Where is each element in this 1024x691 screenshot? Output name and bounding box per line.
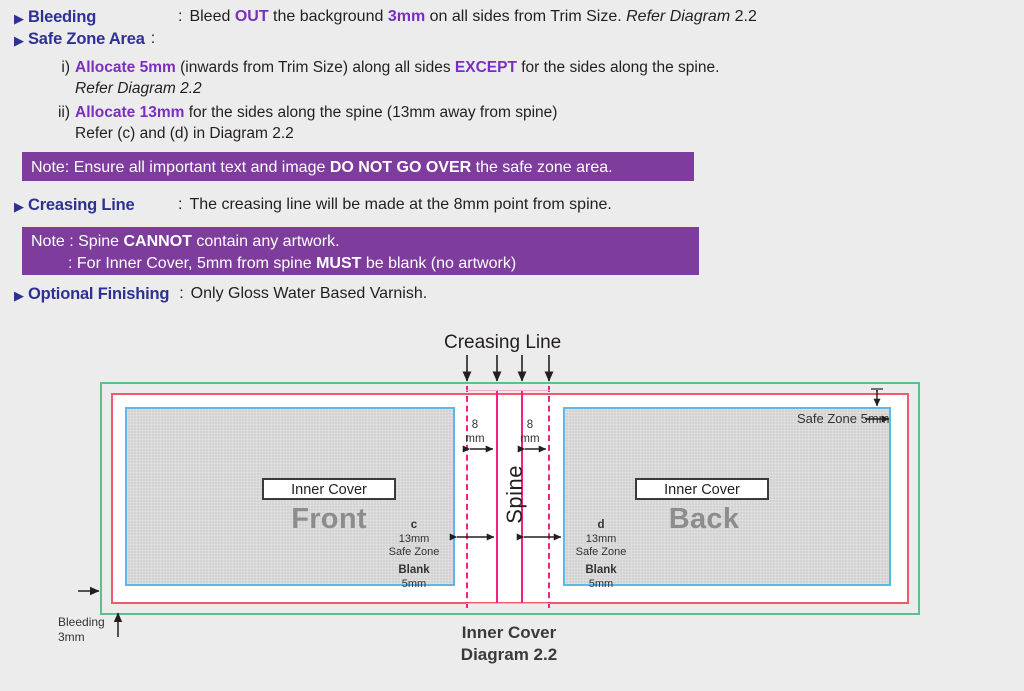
sub-item-number: i) [48,59,70,77]
frag-allocate-13mm: Allocate 13mm [75,104,184,121]
note-box-safe-zone: Note: Ensure all important text and imag… [22,152,694,181]
back-marker-d: d [597,519,604,531]
frag-out: OUT [235,8,269,25]
frag: be blank (no artwork) [361,255,516,272]
crease-measure-left: 8 mm [458,418,492,447]
spec-colon-bleeding: : [178,8,182,26]
frag: for the sides along the spine (13mm away… [184,104,557,121]
back-panel [563,407,891,586]
safe-zone-callout-label: Safe Zone 5mm [797,411,890,426]
creasing-arrows [467,355,549,381]
spine-box-top-rule [466,390,550,391]
spec-text-bleeding: Bleed OUT the background 3mm on all side… [189,8,756,26]
bleeding-callout-line1: Bleeding [58,615,105,630]
note-box-spine: Note : Spine CANNOT contain any artwork.… [22,227,699,275]
triangle-right-icon: ▶ [14,289,24,302]
front-blank-note: Blank 5mm [381,564,447,591]
frag-must: MUST [316,255,361,272]
bleed-boundary-green [100,382,920,615]
diagram-caption-line2: Diagram 2.2 [409,644,609,666]
back-blank-value: 5mm [568,578,634,591]
sub-item-text: Allocate 5mm (inwards from Trim Size) al… [75,59,719,77]
frag-except: EXCEPT [455,59,517,76]
front-safe-zone-value: 13mm [381,533,447,546]
front-panel [125,407,455,586]
specification-list: ▶ Bleeding : Bleed OUT the background 3m… [0,0,1024,143]
crease-measure-right: 8 mm [513,418,547,447]
frag-cannot: CANNOT [124,233,192,250]
triangle-right-icon: ▶ [14,12,24,25]
front-safe-zone-note: c 13mm Safe Zone [381,519,447,559]
frag-3mm: 3mm [388,8,425,25]
spec-colon-optional-finishing: : [179,285,183,303]
diagram-caption: Inner Cover Diagram 2.2 [409,622,609,666]
page-root: ▶ Bleeding : Bleed OUT the background 3m… [0,0,1024,691]
spine-box-bottom-rule [466,603,550,604]
frag: 2.2 [730,8,757,25]
back-safe-zone-value: 13mm [568,533,634,546]
front-label: Front [234,503,424,536]
frag-allocate-5mm: Allocate 5mm [75,59,176,76]
back-label: Back [609,503,799,536]
back-blank-label: Blank [585,564,616,576]
crease-measure-right-unit: mm [513,432,547,446]
triangle-right-icon: ▶ [14,200,24,213]
front-safe-zone-text: Safe Zone [381,546,447,559]
spec-row-optional-finishing: ▶ Optional Finishing : Only Gloss Water … [0,285,427,303]
frag-do-not-go-over: DO NOT GO OVER [330,159,471,176]
spec-label-safe-zone-area: Safe Zone Area [28,30,145,48]
frag: (inwards from Trim Size) along all sides [176,59,455,76]
frag: : For Inner Cover, 5mm from spine [68,255,316,272]
creasing-line-title: Creasing Line [444,332,561,354]
front-inner-cover-tag: Inner Cover [262,478,396,500]
spec-label-bleeding: Bleeding [28,8,178,26]
spec-colon-creasing-line: : [178,196,182,214]
spec-text-optional-finishing: Only Gloss Water Based Varnish. [191,285,428,303]
spec-colon-safe-zone-area: : [151,30,155,48]
frag: Bleed [189,8,234,25]
sub-item-text: Allocate 13mm for the sides along the sp… [75,104,557,122]
frag: on all sides from Trim Size. [425,8,626,25]
front-blank-value: 5mm [381,578,447,591]
crease-line-right-dashed [548,386,550,608]
sub-item-i: i) Allocate 5mm (inwards from Trim Size)… [0,59,1024,77]
frag: contain any artwork. [192,233,340,250]
frag: for the sides along the spine. [517,59,720,76]
spec-row-bleeding: ▶ Bleeding : Bleed OUT the background 3m… [0,8,1024,26]
frag: Note: Ensure all important text and imag… [31,159,330,176]
frag: the safe zone area. [471,159,612,176]
frag-refer: Refer Diagram [626,8,730,25]
frag: the background [269,8,388,25]
bleeding-callout-line2: 3mm [58,630,105,645]
back-safe-zone-text: Safe Zone [568,546,634,559]
note-spine-line2: : For Inner Cover, 5mm from spine MUST b… [31,253,690,275]
trim-boundary-red [111,393,909,604]
crease-measure-left-unit: mm [458,432,492,446]
sub-item-ii: ii) Allocate 13mm for the sides along th… [0,104,1024,122]
crease-line-left-dashed [466,386,468,608]
bleeding-callout-arrows [78,591,118,637]
spine-edge-right [521,390,523,604]
sub-item-i-continuation: Refer Diagram 2.2 [0,80,1024,98]
frag: Note : Spine [31,233,124,250]
spine-edge-left [496,390,498,604]
diagram-caption-line1: Inner Cover [409,622,609,644]
sub-item-ii-continuation: Refer (c) and (d) in Diagram 2.2 [0,125,1024,143]
spine-label: Spine [502,465,528,524]
crease-measure-right-value: 8 [513,418,547,432]
spec-label-optional-finishing: Optional Finishing [28,285,169,303]
crease-measure-left-value: 8 [458,418,492,432]
spec-row-safe-zone-area: ▶ Safe Zone Area : [0,30,1024,48]
back-safe-zone-note: d 13mm Safe Zone [568,519,634,559]
back-blank-note: Blank 5mm [568,564,634,591]
front-marker-c: c [411,519,417,531]
spec-label-creasing-line: Creasing Line [28,196,178,214]
spec-row-creasing-line: ▶ Creasing Line : The creasing line will… [0,196,612,214]
triangle-right-icon: ▶ [14,34,24,47]
spec-text-creasing-line: The creasing line will be made at the 8m… [189,196,611,214]
safe-zone-5mm-callout-arrows [865,390,889,419]
bleeding-callout-label: Bleeding 3mm [58,615,105,645]
front-blank-label: Blank [398,564,429,576]
back-inner-cover-tag: Inner Cover [635,478,769,500]
note-spine-line1: Note : Spine CANNOT contain any artwork. [31,231,690,253]
sub-item-number: ii) [48,104,70,122]
